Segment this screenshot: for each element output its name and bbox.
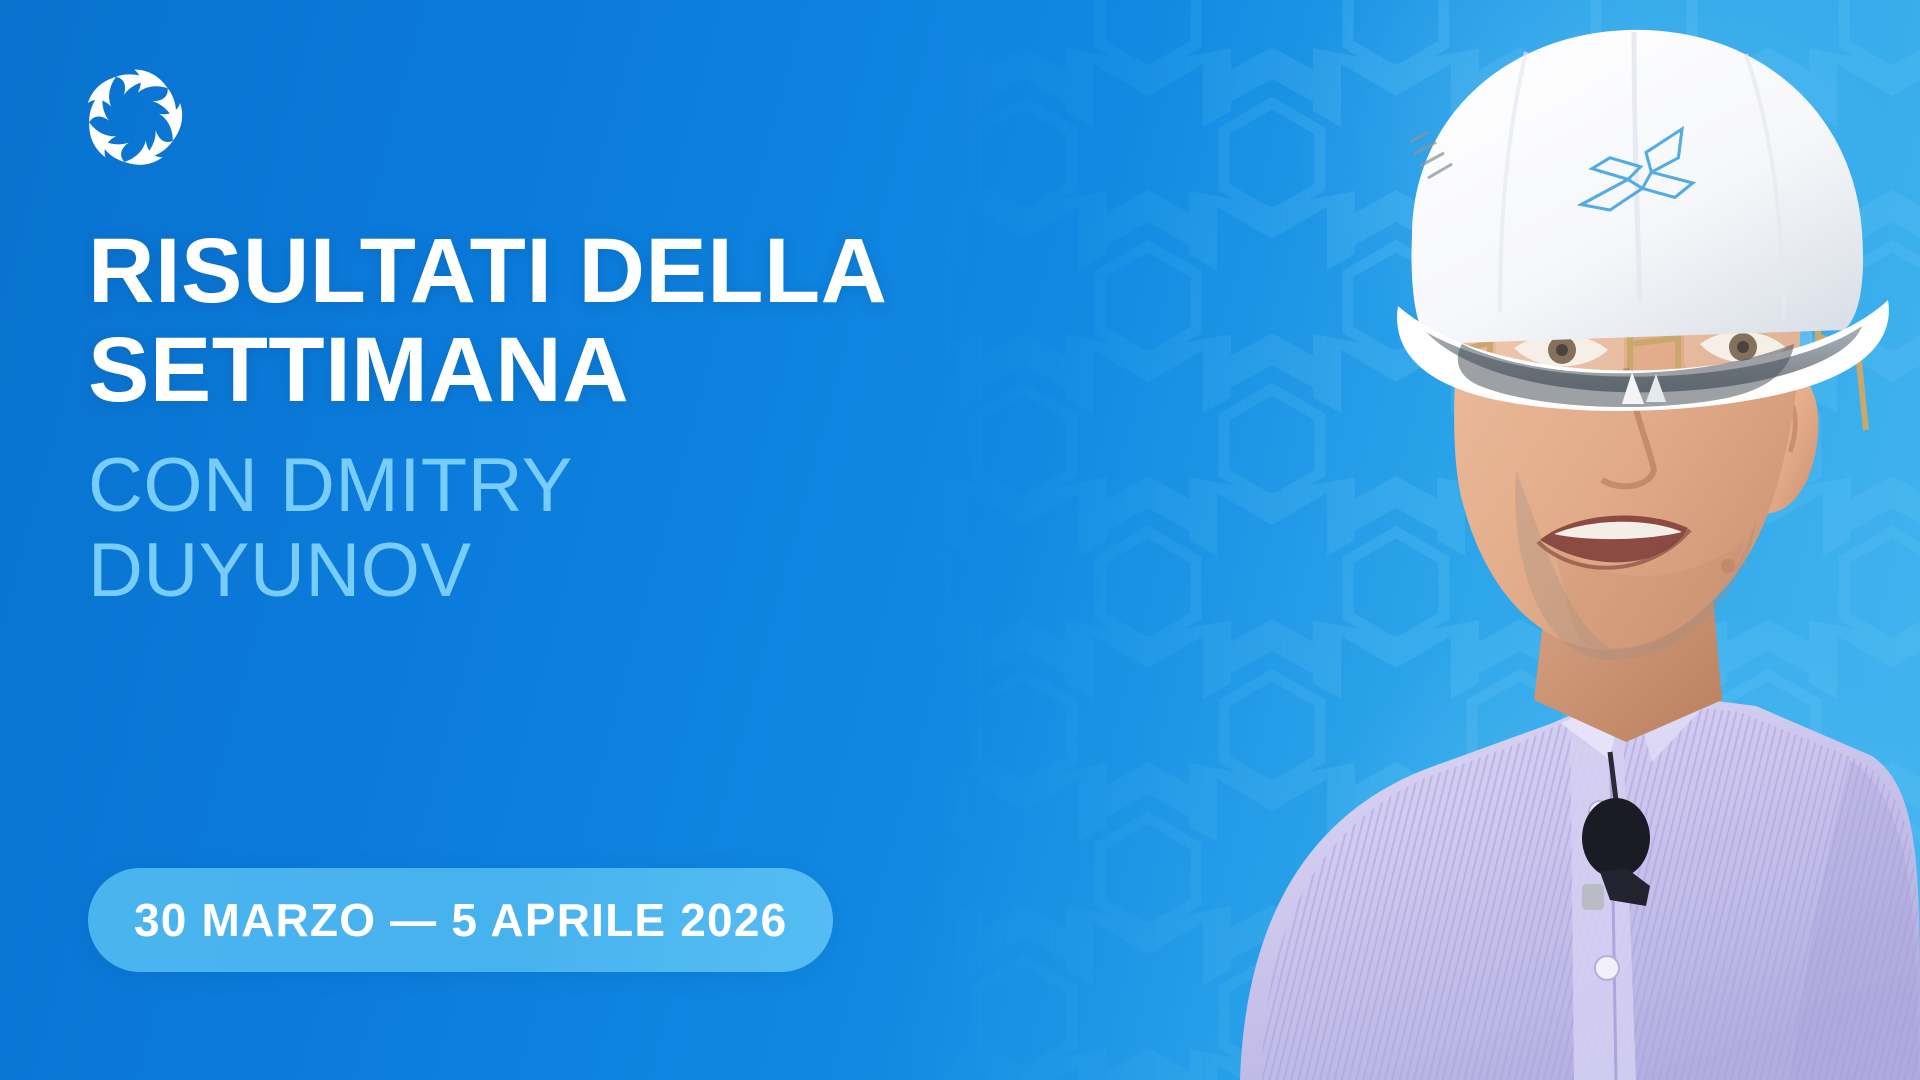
date-range-label: 30 MARZO — 5 APRILE 2026 (134, 893, 787, 947)
swirl-circle-logo-icon[interactable] (78, 62, 190, 174)
date-range-badge[interactable]: 30 MARZO — 5 APRILE 2026 (88, 868, 833, 972)
background-glow-top (1180, 0, 1920, 520)
hexagonal-chevron-pattern (900, 0, 1920, 1080)
weekly-results-banner: RISULTATI DELLA SETTIMANA CON DMITRY DUY… (0, 0, 1920, 1080)
background-glow-bottom (1180, 480, 1920, 1080)
speaker-portrait (910, 0, 1920, 1080)
page-subtitle: CON DMITRY DUYUNOV (88, 443, 1028, 613)
headline-block: RISULTATI DELLA SETTIMANA CON DMITRY DUY… (88, 222, 1028, 613)
page-title: RISULTATI DELLA SETTIMANA (88, 222, 1028, 421)
